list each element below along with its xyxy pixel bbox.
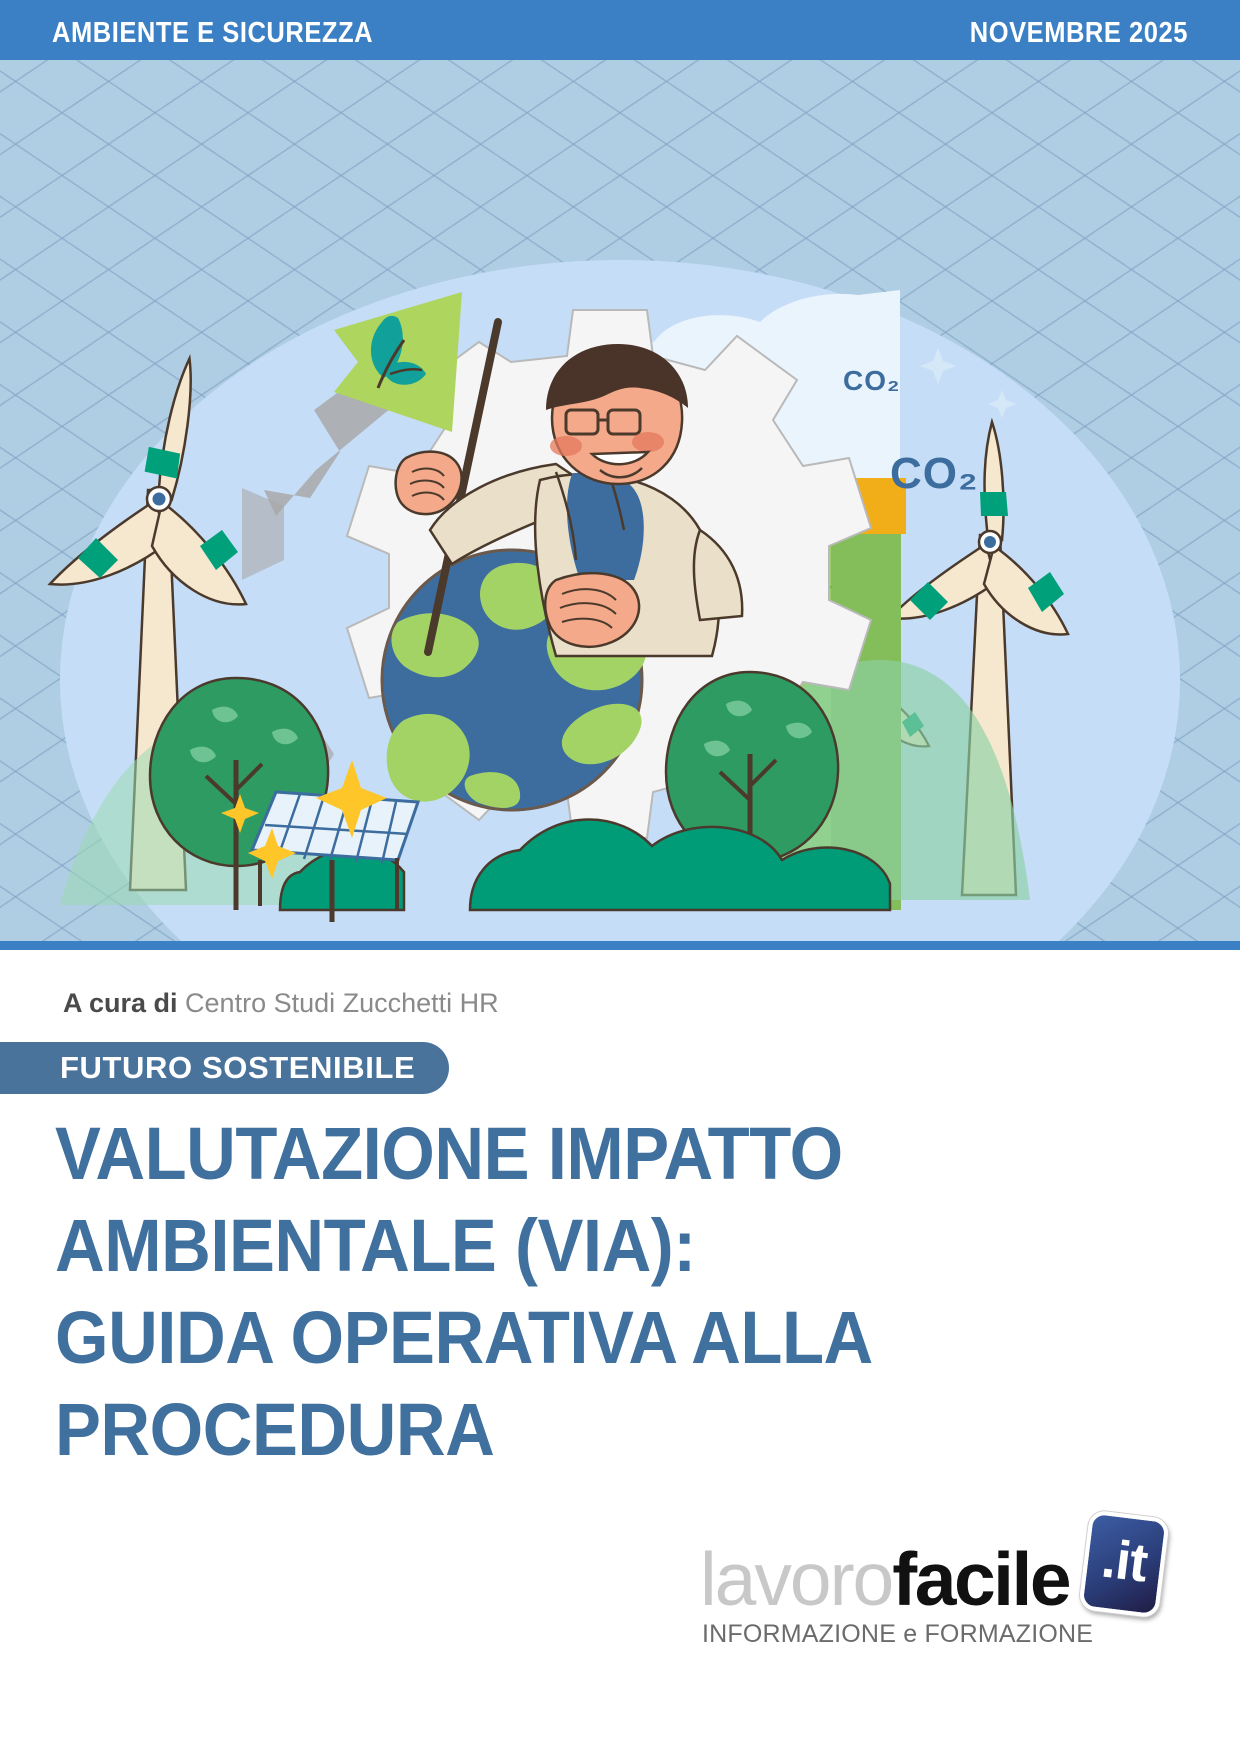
page-title-line-4: PROCEDURA [55,1384,994,1476]
logo-word-facile: facile [892,1537,1069,1621]
logo-tagline: INFORMAZIONE e FORMAZIONE [702,1620,1093,1649]
page-title: VALUTAZIONE IMPATTO AMBIENTALE (VIA): GU… [55,1108,994,1476]
category-badge: FUTURO SOSTENIBILE [0,1042,449,1094]
page-title-line-1: VALUTAZIONE IMPATTO [55,1108,994,1200]
sustainability-illustration-svg: CO₂ CO₂ [0,60,1240,950]
logo-tld-text: .it [1083,1514,1166,1614]
header-issue-date: NOVEMBRE 2025 [970,17,1188,50]
curator-prefix: A cura di [63,988,178,1018]
category-badge-label: FUTURO SOSTENIBILE [60,1050,415,1086]
curator-spacer [178,988,186,1018]
page-title-line-3: GUIDA OPERATIVA ALLA [55,1292,994,1384]
lavorofacile-logo[interactable]: lavorofacile .it INFORMAZIONE e FORMAZIO… [700,1542,1170,1662]
logo-word-lavoro: lavoro [700,1537,892,1621]
hero-bottom-rule [0,941,1240,950]
cover-text-block: A cura di Centro Studi Zucchetti HR FUTU… [0,950,1240,1754]
header-bar: AMBIENTE E SICUREZZA NOVEMBRE 2025 [0,0,1240,60]
hero-illustration: CO₂ CO₂ [0,60,1240,950]
co2-label-small: CO₂ [843,365,900,396]
page-title-line-2: AMBIENTALE (VIA): [55,1200,994,1292]
logo-tld-badge: .it [1078,1509,1170,1618]
header-section-label: AMBIENTE E SICUREZZA [52,17,373,50]
logo-wordmark: lavorofacile [700,1542,1069,1617]
curator-line: A cura di Centro Studi Zucchetti HR [63,988,499,1019]
curator-name: Centro Studi Zucchetti HR [185,988,499,1018]
cover-page: AMBIENTE E SICUREZZA NOVEMBRE 2025 [0,0,1240,1754]
co2-label-large: CO₂ [890,449,979,498]
